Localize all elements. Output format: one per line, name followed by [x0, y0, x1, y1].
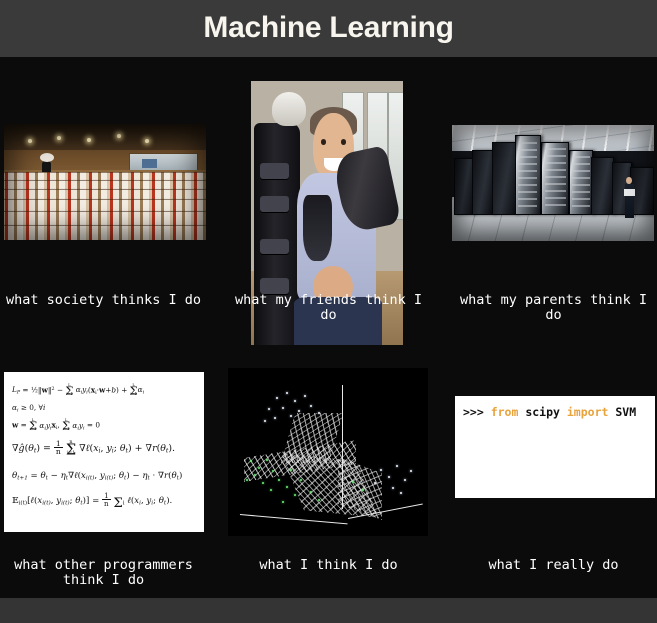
hall-vignette	[4, 124, 206, 240]
caption-parents: what my parents think I do	[450, 293, 657, 323]
equation-line-3: w = LΣi=1 αiyixi, LΣi=1 αiyi = 0	[12, 418, 196, 436]
console-symbol-name: SVM	[608, 405, 636, 419]
panel-grid: what society thinks I do	[0, 57, 657, 598]
image-equations: LP = ½‖w‖2 − LΣi=1 αiyi(xi·w+b) + LΣi=1α…	[4, 372, 204, 532]
console-keyword-import: import	[567, 405, 609, 419]
caption-friends: what my friends think I do	[225, 293, 432, 323]
equation-line-1: LP = ½‖w‖2 − LΣi=1 αiyi(xi·w+b) + LΣi=1α…	[12, 382, 196, 401]
person-eye	[321, 139, 326, 145]
robot-gripper	[303, 195, 332, 261]
equation-line-6: 𝔼i(t)[ℓ(xi(t), yi(t); θt)] = 1n Σi ℓ(xi,…	[12, 490, 196, 515]
image-lecture-hall	[4, 124, 206, 240]
equation-line-4: ∇ĝ(θt) = 1n nΣi=1 ∇ℓ(xi, yi; θt) + ∇r(θt…	[12, 436, 196, 464]
console-code-line: >>> from scipy import SVM	[463, 405, 651, 419]
equation-sheet: LP = ½‖w‖2 − LΣi=1 αiyi(xi·w+b) + LΣi=1α…	[4, 372, 204, 532]
meme-page: Machine Learning	[0, 0, 657, 623]
person-eye	[341, 139, 346, 145]
console-prompt: >>>	[463, 405, 491, 419]
robot-joint	[260, 163, 288, 179]
page-title: Machine Learning	[203, 11, 453, 45]
server-vignette	[452, 125, 654, 241]
image-svm-surface-plot	[228, 368, 428, 536]
caption-think: what I think I do	[225, 558, 432, 573]
console-keyword-from: from	[491, 405, 519, 419]
footer-bar	[0, 598, 657, 623]
plot-x-axis	[240, 514, 348, 524]
robot-joint	[260, 239, 288, 255]
equation-line-2: αi ≥ 0, ∀i	[12, 401, 196, 418]
robot-head	[272, 92, 305, 126]
equation-line-5: θt+1 = θt − ηt∇ℓ(xi(t), yi(t); θt) − ηt …	[12, 464, 196, 491]
image-server-room	[452, 125, 654, 241]
caption-society: what society thinks I do	[0, 293, 207, 308]
image-python-console: >>> from scipy import SVM	[455, 396, 655, 498]
header-bar: Machine Learning	[0, 0, 657, 57]
caption-programmers: what other programmers think I do	[0, 558, 207, 588]
caption-really: what I really do	[450, 558, 657, 573]
robot-joint	[260, 196, 288, 212]
console-module-name: scipy	[518, 405, 566, 419]
